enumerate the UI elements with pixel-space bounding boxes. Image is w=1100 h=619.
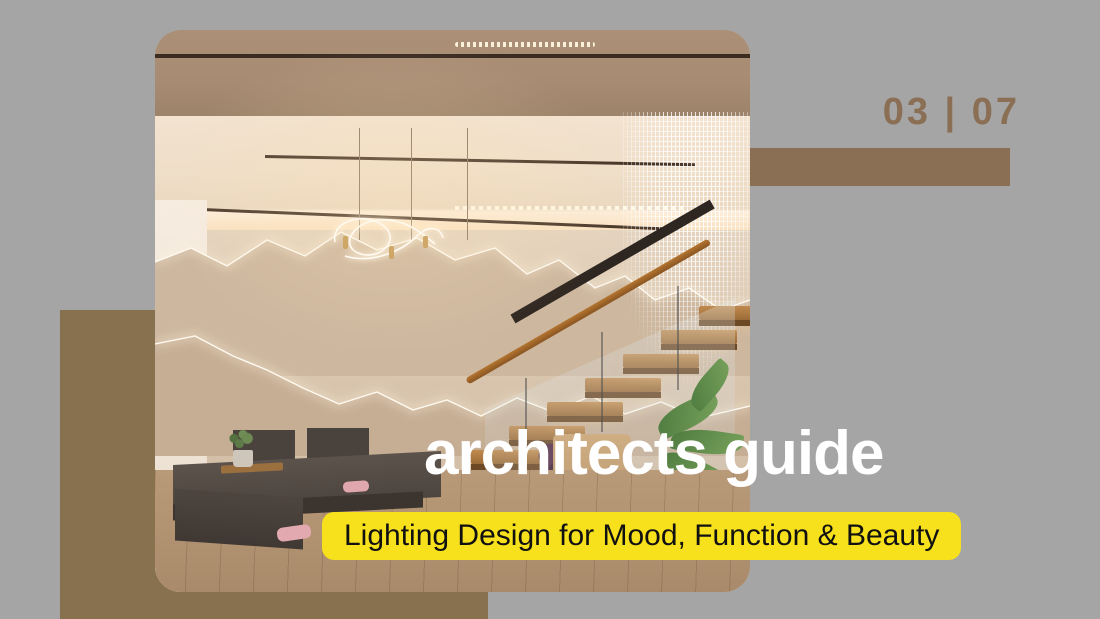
table-plant-foliage — [225, 428, 261, 454]
sculptural-pendant-light — [321, 206, 449, 268]
ceiling-soffit — [155, 30, 750, 116]
subtitle-chip: Lighting Design for Mood, Function & Bea… — [322, 512, 961, 560]
floor-cushion-a — [343, 480, 370, 493]
interior-photo — [155, 30, 750, 592]
page-title: architects guide — [424, 423, 883, 485]
subtitle-text: Lighting Design for Mood, Function & Bea… — [344, 521, 939, 551]
slide-canvas: 03 | 07 — [0, 0, 1100, 619]
photo-content — [155, 30, 750, 592]
ceiling-trim-line — [155, 54, 750, 58]
accent-bar — [750, 148, 1010, 186]
ceiling-downlights — [455, 42, 595, 47]
page-counter: 03 | 07 — [750, 93, 1020, 131]
